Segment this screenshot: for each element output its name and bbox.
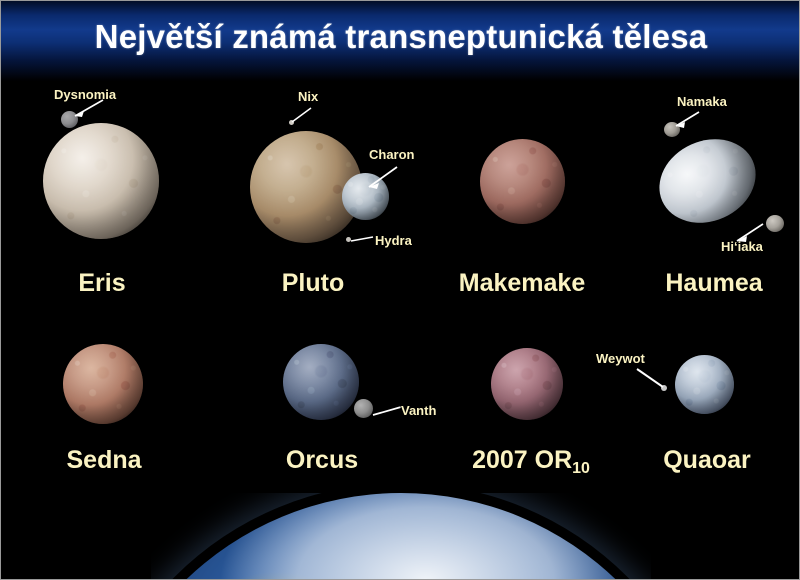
moon-label-vanth: Vanth xyxy=(401,403,436,418)
moon-vanth xyxy=(354,399,373,418)
planet-2007or10 xyxy=(491,348,563,420)
moon-charon xyxy=(342,173,389,220)
moon-hiiaka xyxy=(766,215,784,232)
terminator-shading xyxy=(63,344,143,424)
moon-hydra xyxy=(346,237,351,242)
body-name-pluto: Pluto xyxy=(282,269,345,298)
terminator-shading xyxy=(342,173,389,220)
planet-makemake xyxy=(480,139,565,224)
planet-sedna xyxy=(63,344,143,424)
body-name-sedna: Sedna xyxy=(66,446,141,475)
planet-orcus xyxy=(283,344,359,420)
moon-weywot xyxy=(661,385,667,391)
terminator-shading xyxy=(283,344,359,420)
moon-namaka xyxy=(664,122,680,137)
moon-label-hydra: Hydra xyxy=(375,233,412,248)
terminator-shading xyxy=(675,355,734,414)
moon-label-weywot: Weywot xyxy=(596,351,645,366)
terminator-shading xyxy=(646,124,769,237)
body-name-2007or10-subscript: 10 xyxy=(572,460,590,477)
page-title: Největší známá transneptunická tělesa xyxy=(1,1,800,73)
leader-line-nix xyxy=(285,105,327,129)
earth-limb xyxy=(151,493,651,580)
body-name-haumea: Haumea xyxy=(665,269,762,298)
moon-label-charon: Charon xyxy=(369,147,415,162)
moon-dysnomia xyxy=(61,111,78,128)
title-banner: Největší známá transneptunická tělesa xyxy=(1,1,800,81)
terminator-shading xyxy=(480,139,565,224)
terminator-shading xyxy=(491,348,563,420)
body-name-makemake: Makemake xyxy=(459,269,585,298)
terminator-shading xyxy=(43,123,159,239)
body-name-2007or10: 2007 OR10 xyxy=(472,446,590,475)
slide-canvas: Největší známá transneptunická tělesa Dy… xyxy=(0,0,800,580)
planet-haumea xyxy=(646,124,769,237)
moon-label-hiiaka: Hi‘iaka xyxy=(721,239,763,254)
body-name-orcus: Orcus xyxy=(286,446,358,475)
planet-eris xyxy=(43,123,159,239)
body-name-2007or10-base: 2007 OR xyxy=(472,446,572,474)
moon-nix xyxy=(289,120,294,125)
moon-label-namaka: Namaka xyxy=(677,94,727,109)
planet-quaoar xyxy=(675,355,734,414)
moon-label-nix: Nix xyxy=(298,89,318,104)
body-name-eris: Eris xyxy=(78,269,125,298)
moon-label-dysnomia: Dysnomia xyxy=(54,87,116,102)
body-name-quaoar: Quaoar xyxy=(663,446,751,475)
